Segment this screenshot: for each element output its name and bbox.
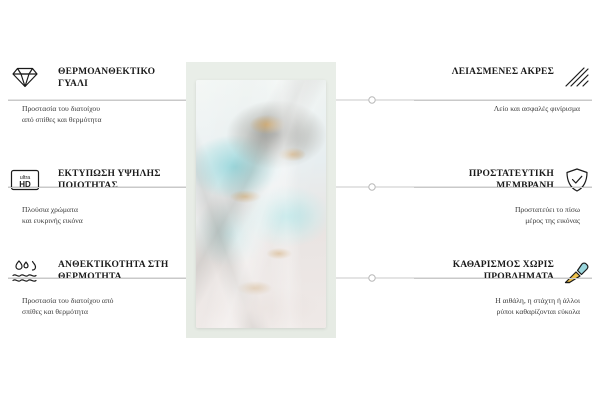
- feature-left-1-desc-wrap: Προστασία του διατοίχου από σπίθες και θ…: [22, 104, 182, 125]
- feature-left-2-divider: [8, 187, 186, 188]
- feature-left-1-title: ΘΕΡΜΟΑΝΘΕΚΤΙΚΟ ΓΥΑΛΙ: [22, 66, 178, 90]
- feature-right-2-desc: Προστατεύει το πίσω μέρος της εικόνας: [410, 205, 580, 226]
- feature-left-1-divider: [8, 100, 186, 101]
- infographic-root: ΘΕΡΜΟΑΝΘΕΚΤΙΚΟ ΓΥΑΛΙ Προστασία του διατο…: [0, 0, 600, 400]
- feature-left-2-title: ΕΚΤΥΠΩΣΗ ΥΨΗΛΗΣ ΠΟΙΟΤΗΤΑΣ: [22, 168, 178, 192]
- feature-right-3-divider: [414, 278, 592, 279]
- product-image-panel: [186, 62, 336, 338]
- feature-right-3-title: ΚΑΘΑΡΙΣΜΟΣ ΧΩΡΙΣ ΠΡΟΒΛΗΜΑΤΑ: [415, 259, 554, 283]
- feature-left-1-desc: Προστασία του διατοίχου από σπίθες και θ…: [22, 104, 182, 125]
- feature-right-2-title: ΠΡΟΣΤΑΤΕΥΤΙΚΗ ΜΕΜΒΡΑΝΗ: [420, 168, 554, 192]
- feature-right-3-desc: Η αιθάλη, η στάχτη ή άλλοι ρύποι καθαρίζ…: [405, 296, 580, 317]
- feature-left-3-divider: [8, 278, 186, 279]
- feature-right-1-title: ΛΕΙΑΣΜΕΝΕΣ ΑΚΡΕΣ: [420, 66, 554, 78]
- feature-right-1-desc-wrap: Λείο και ασφαλές φινίρισμα: [410, 104, 580, 115]
- shield-icon: [562, 165, 592, 195]
- feature-right-1-divider: [414, 100, 592, 101]
- feature-left-2-desc-wrap: Πλούσια χρώματα και ευκρινής εικόνα: [22, 205, 182, 226]
- feature-right-1-desc: Λείο και ασφαλές φινίρισμα: [410, 104, 580, 115]
- product-artwork: [196, 80, 326, 328]
- feature-left-3: ΑΝΘΕΚΤΙΚΟΤΗΤΑ ΣΤΗ ΘΕΡΜΟΤΗΤΑ: [22, 259, 178, 283]
- feature-left-3-title: ΑΝΘΕΚΤΙΚΟΤΗΤΑ ΣΤΗ ΘΕΡΜΟΤΗΤΑ: [22, 259, 178, 283]
- feature-right-2: ΠΡΟΣΤΑΤΕΥΤΙΚΗ ΜΕΜΒΡΑΝΗ: [420, 168, 554, 192]
- feature-left-3-desc: Προστασία του διατοίχου από σπίθες και θ…: [22, 296, 187, 317]
- feature-left-2: ΕΚΤΥΠΩΣΗ ΥΨΗΛΗΣ ΠΟΙΟΤΗΤΑΣ: [22, 168, 178, 192]
- smooth-edges-icon: [562, 62, 592, 92]
- feature-left-2-desc: Πλούσια χρώματα και ευκρινής εικόνα: [22, 205, 182, 226]
- feature-left-3-desc-wrap: Προστασία του διατοίχου από σπίθες και θ…: [22, 296, 187, 317]
- feature-right-2-divider: [414, 187, 592, 188]
- artwork-glass-sheen: [196, 80, 326, 328]
- easy-cleaning-icon: [562, 258, 592, 288]
- feature-right-3: ΚΑΘΑΡΙΣΜΟΣ ΧΩΡΙΣ ΠΡΟΒΛΗΜΑΤΑ: [415, 259, 554, 283]
- feature-left-1: ΘΕΡΜΟΑΝΘΕΚΤΙΚΟ ΓΥΑΛΙ: [22, 66, 178, 90]
- feature-right-1: ΛΕΙΑΣΜΕΝΕΣ ΑΚΡΕΣ: [420, 66, 554, 78]
- feature-right-2-desc-wrap: Προστατεύει το πίσω μέρος της εικόνας: [410, 205, 580, 226]
- feature-right-3-desc-wrap: Η αιθάλη, η στάχτη ή άλλοι ρύποι καθαρίζ…: [405, 296, 580, 317]
